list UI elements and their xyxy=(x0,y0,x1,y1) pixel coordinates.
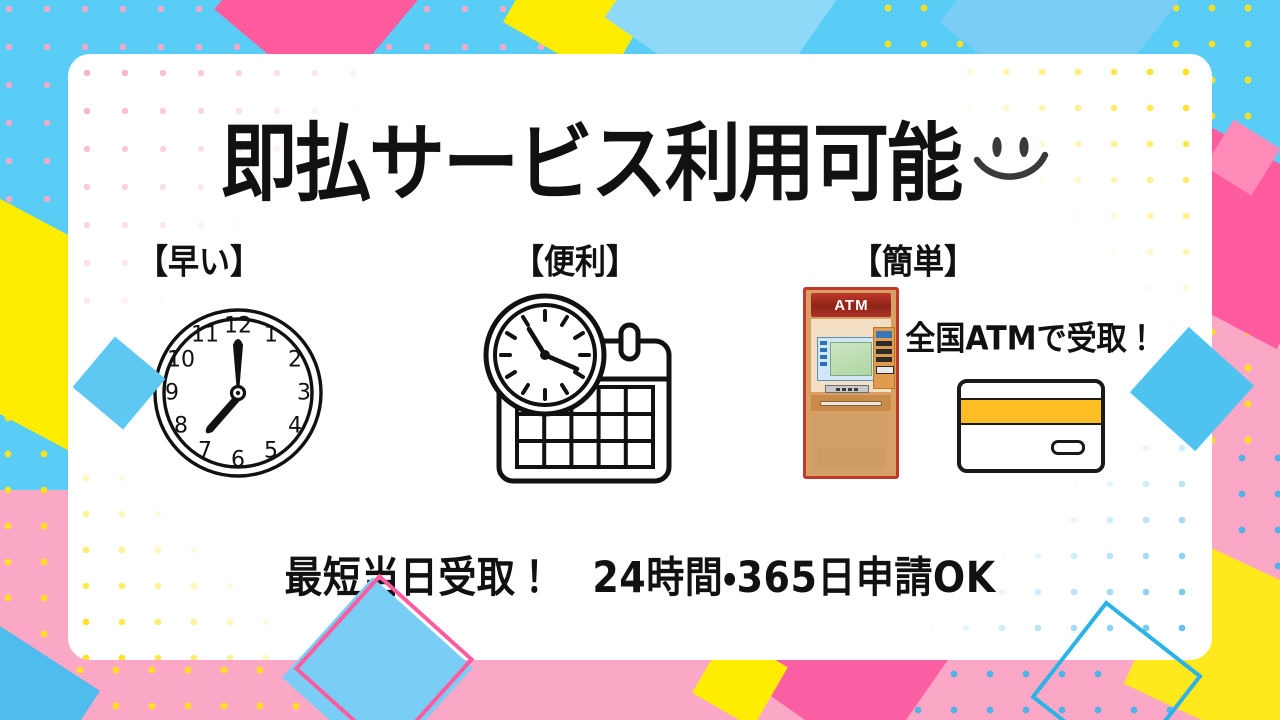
atm-button xyxy=(820,362,827,366)
atm-art-row: ATM xyxy=(803,287,1156,479)
svg-text:6: 6 xyxy=(231,448,245,473)
svg-text:3: 3 xyxy=(297,381,311,406)
bank-card-stripe xyxy=(961,398,1101,425)
feature-columns: 【早い】 12 1 2 3 4 5 xyxy=(68,236,1212,496)
svg-text:1: 1 xyxy=(264,323,278,348)
atm-label: ATM xyxy=(834,297,868,314)
bank-card-icon xyxy=(957,379,1105,473)
svg-text:10: 10 xyxy=(167,348,195,373)
analog-clock-icon: 12 1 2 3 4 5 6 7 8 9 10 11 xyxy=(152,293,324,493)
atm-button xyxy=(820,348,827,352)
atm-button xyxy=(820,355,827,359)
feature-label-convenient: 【便利】 xyxy=(513,234,637,284)
svg-text:9: 9 xyxy=(165,381,179,406)
atm-dispenser-slot xyxy=(820,401,882,406)
svg-text:7: 7 xyxy=(198,439,212,464)
smiley-face-icon xyxy=(967,127,1059,201)
page-title: 即払サービス利用可能 xyxy=(221,121,961,206)
promo-banner: 即払サービス利用可能 【早い】 1 xyxy=(0,0,1280,720)
bank-card-art xyxy=(957,379,1105,473)
atm-caption: 全国ATMで受取！ xyxy=(905,311,1156,359)
atm-upper-panel xyxy=(811,319,891,392)
svg-text:12: 12 xyxy=(224,314,252,339)
bank-card-signature-panel xyxy=(1051,440,1085,455)
atm-key xyxy=(854,388,858,391)
svg-text:2: 2 xyxy=(288,348,302,373)
atm-key xyxy=(836,388,840,391)
atm-cash-dispenser xyxy=(811,395,891,411)
footer-line: 最短当日受取！ 24時間・365日申請OK xyxy=(68,546,1212,601)
atm-screen xyxy=(830,342,872,376)
atm-caption-block: 全国ATMで受取！ xyxy=(905,287,1156,473)
svg-text:11: 11 xyxy=(191,323,219,348)
content-card: 即払サービス利用可能 【早い】 1 xyxy=(68,54,1212,660)
atm-key xyxy=(848,388,852,391)
feature-convenient: 【便利】 xyxy=(408,236,748,496)
atm-slot xyxy=(876,349,892,354)
feature-label-easy: 【簡単】 xyxy=(851,234,975,284)
feature-label-fast: 【早い】 xyxy=(137,234,261,284)
atm-button xyxy=(820,341,827,345)
atm-slot xyxy=(876,366,894,374)
atm-buttons-left xyxy=(820,341,827,366)
headline-row: 即払サービス利用可能 xyxy=(68,126,1212,202)
calendar-clock-icon xyxy=(473,293,683,489)
atm-key xyxy=(842,388,846,391)
svg-text:8: 8 xyxy=(174,414,188,439)
clock-art: 12 1 2 3 4 5 6 7 8 9 10 11 xyxy=(152,293,324,493)
atm-slot xyxy=(876,341,892,346)
atm-slot xyxy=(876,331,892,338)
calendar-clock-art xyxy=(473,293,683,489)
atm-keypad xyxy=(825,385,869,393)
atm-header: ATM xyxy=(811,293,891,317)
atm-machine-icon: ATM xyxy=(803,287,899,479)
atm-lower-body xyxy=(811,414,891,473)
atm-card-slot-panel xyxy=(873,327,895,389)
feature-easy: 【簡単】 ATM xyxy=(748,236,1212,496)
atm-slot xyxy=(876,357,892,362)
svg-text:4: 4 xyxy=(288,414,302,439)
svg-text:5: 5 xyxy=(264,439,278,464)
